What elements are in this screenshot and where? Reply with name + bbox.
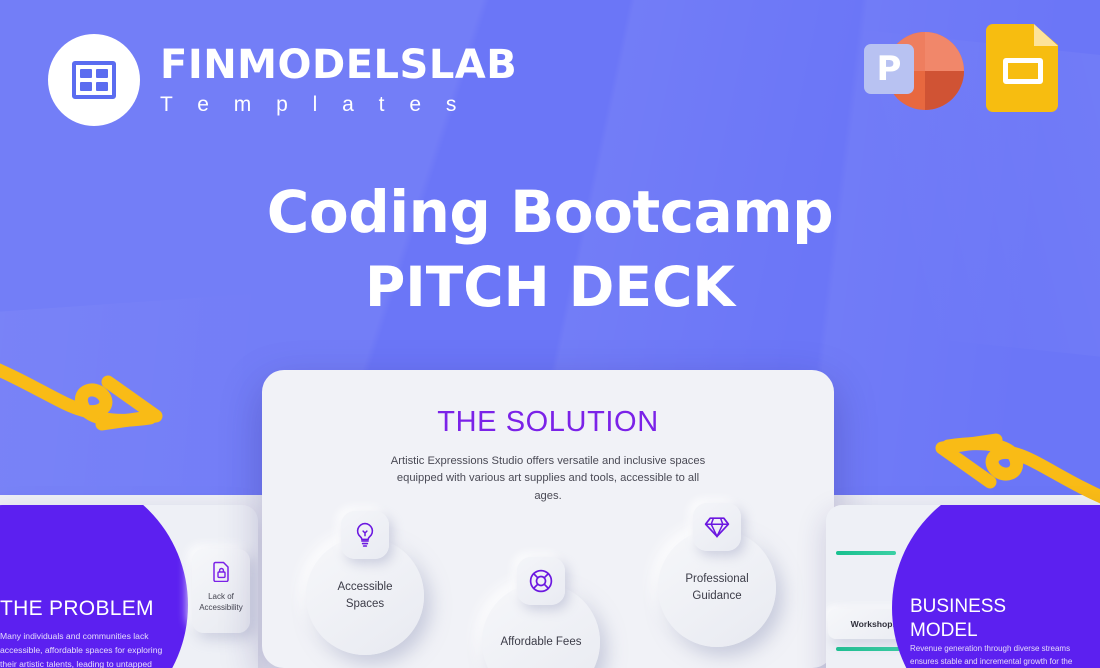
business-bar-1: [836, 551, 896, 555]
lightbulb-icon: [341, 511, 389, 559]
business-title: BUSINESS MODEL: [910, 595, 1006, 644]
slide-preview-canvas: FINMODELSLAB T e m p l a t e s P Coding …: [0, 0, 1100, 668]
feature-3-line2: Guidance: [692, 590, 741, 602]
solution-feature-3-label: Professional Guidance: [685, 571, 748, 604]
solution-title: THE SOLUTION: [262, 406, 834, 439]
solution-feature-2-label: Affordable Fees: [501, 634, 582, 651]
slide-thumbnail-solution[interactable]: THE SOLUTION Artistic Expressions Studio…: [262, 370, 834, 668]
business-title-line1: BUSINESS: [910, 596, 1006, 617]
business-body-text: Revenue generation through diverse strea…: [910, 643, 1096, 668]
feature-2-line1: Affordable Fees: [501, 636, 582, 648]
powerpoint-letter: P: [877, 52, 902, 86]
diamond-icon: [693, 503, 741, 551]
problem-title: THE PROBLEM: [0, 597, 154, 621]
solution-feature-group: Accessible Spaces Affordable Fees: [262, 513, 834, 663]
solution-feature-1-label: Accessible Spaces: [338, 579, 393, 612]
business-title-line2: MODEL: [910, 620, 978, 641]
solution-feature-2[interactable]: Affordable Fees: [482, 583, 600, 668]
powerpoint-icon[interactable]: P: [864, 22, 964, 114]
google-slides-icon[interactable]: [986, 24, 1058, 112]
brand-logo[interactable]: FINMODELSLAB T e m p l a t e s: [48, 34, 517, 126]
logo-mark: [48, 34, 140, 126]
feature-1-line1: Accessible: [338, 581, 393, 593]
hero-title-line1: Coding Bootcamp: [0, 182, 1100, 243]
problem-body-text: Many individuals and communities lack ac…: [0, 629, 180, 668]
feature-3-line1: Professional: [685, 573, 748, 585]
problem-card-label-line2: Accessibility: [199, 603, 243, 612]
grid-squares-icon: [72, 61, 116, 99]
powerpoint-square: P: [864, 44, 914, 94]
solution-feature-1[interactable]: Accessible Spaces: [306, 537, 424, 655]
slide-thumbnail-business-model[interactable]: Workshops BUSINESS MODEL Revenue generat…: [826, 505, 1100, 668]
problem-card-label-line1: Lack of: [208, 592, 234, 601]
hero-title-line2: PITCH DECK: [0, 259, 1100, 317]
problem-card-label: Lack of Accessibility: [199, 591, 243, 613]
problem-feature-card: Lack of Accessibility: [192, 549, 250, 633]
brand-wordmark: FINMODELSLAB T e m p l a t e s: [160, 45, 517, 115]
brand-subtitle: T e m p l a t e s: [160, 94, 517, 115]
feature-1-line2: Spaces: [346, 598, 384, 610]
workshops-chip-label: Workshops: [851, 619, 898, 629]
brand-name: FINMODELSLAB: [160, 45, 517, 85]
solution-feature-3[interactable]: Professional Guidance: [658, 529, 776, 647]
format-icons: P: [864, 22, 1058, 114]
lifebuoy-icon: [517, 557, 565, 605]
hero-title-block: Coding Bootcamp PITCH DECK: [0, 182, 1100, 317]
slide-thumbnail-problem[interactable]: THE PROBLEM Many individuals and communi…: [0, 505, 258, 668]
solution-body-text: Artistic Expressions Studio offers versa…: [388, 453, 708, 505]
slides-screen-glyph: [1003, 58, 1043, 84]
squiggly-arrow-right-icon: [0, 352, 190, 452]
document-lock-icon: [213, 561, 230, 582]
